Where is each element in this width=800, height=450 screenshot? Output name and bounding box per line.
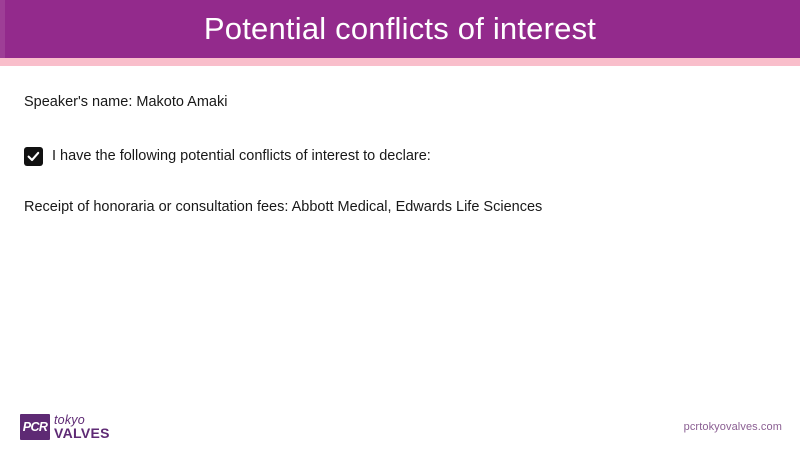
slide-content: Speaker's name: Makoto Amaki I have the … xyxy=(24,92,776,217)
logo-wordmark: tokyo VALVES xyxy=(54,414,110,440)
disclosure-line: Receipt of honoraria or consultation fee… xyxy=(24,197,776,217)
pcr-logo-mark-text: PCR xyxy=(20,414,50,440)
pcr-tokyo-valves-logo: PCR tokyo VALVES xyxy=(20,412,110,442)
page-title: Potential conflicts of interest xyxy=(0,0,800,58)
speaker-name-line: Speaker's name: Makoto Amaki xyxy=(24,92,776,112)
logo-word-valves: VALVES xyxy=(54,426,110,440)
site-url-link[interactable]: pcrtokyovalves.com xyxy=(684,421,782,433)
declaration-label: I have the following potential conflicts… xyxy=(52,146,431,166)
checked-checkbox-icon[interactable] xyxy=(24,147,43,166)
declaration-row: I have the following potential conflicts… xyxy=(24,146,776,166)
pcr-logo-mark: PCR xyxy=(20,414,50,440)
header-accent-divider xyxy=(0,58,800,66)
